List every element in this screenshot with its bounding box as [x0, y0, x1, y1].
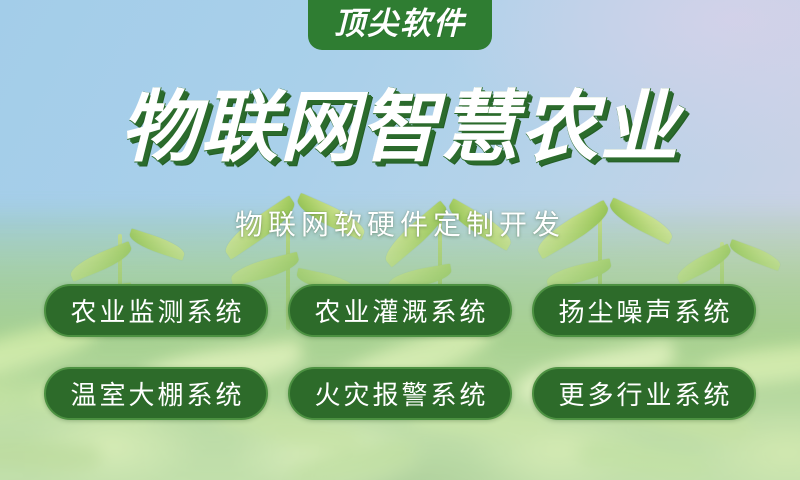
tag-row-1: 农业监测系统 农业灌溉系统 扬尘噪声系统 — [44, 284, 756, 337]
tag-dust-noise[interactable]: 扬尘噪声系统 — [532, 284, 756, 337]
brand-badge: 顶尖软件 — [308, 0, 492, 50]
tag-agriculture-monitoring[interactable]: 农业监测系统 — [44, 284, 268, 337]
promo-banner: 顶尖软件 物联网智慧农业 物联网软硬件定制开发 农业监测系统 农业灌溉系统 扬尘… — [0, 0, 800, 480]
tag-greenhouse[interactable]: 温室大棚系统 — [44, 367, 268, 420]
tag-row-2: 温室大棚系统 火灾报警系统 更多行业系统 — [44, 367, 756, 420]
banner-content: 顶尖软件 物联网智慧农业 物联网软硬件定制开发 农业监测系统 农业灌溉系统 扬尘… — [0, 0, 800, 480]
page-subtitle: 物联网软硬件定制开发 — [0, 203, 800, 243]
page-title: 物联网智慧农业 — [0, 88, 800, 166]
tag-more-industry[interactable]: 更多行业系统 — [532, 367, 756, 420]
tag-fire-alarm[interactable]: 火灾报警系统 — [288, 367, 512, 420]
system-tag-grid: 农业监测系统 农业灌溉系统 扬尘噪声系统 温室大棚系统 火灾报警系统 更多行业系… — [0, 284, 800, 420]
tag-agriculture-irrigation[interactable]: 农业灌溉系统 — [288, 284, 512, 337]
